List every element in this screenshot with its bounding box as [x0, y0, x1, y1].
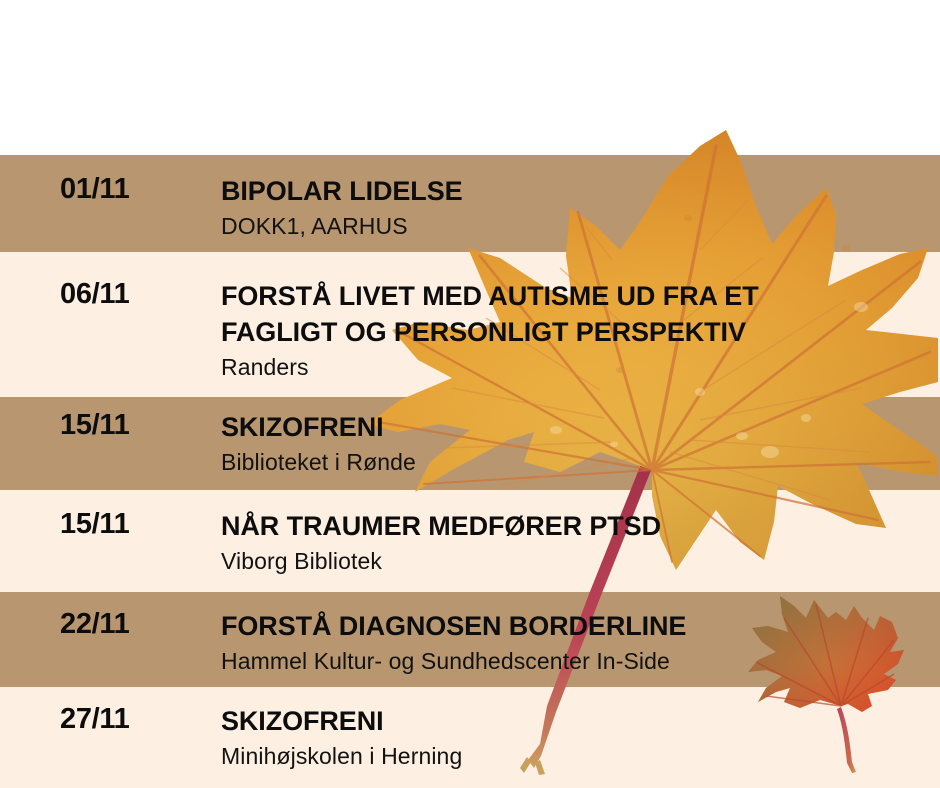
event-location: Viborg Bibliotek: [221, 546, 921, 576]
event-body: FORSTÅ DIAGNOSEN BORDERLINE Hammel Kultu…: [221, 608, 921, 676]
event-title: BIPOLAR LIDELSE: [221, 173, 921, 209]
event-location: DOKK1, AARHUS: [221, 211, 921, 241]
event-title: SKIZOFRENI: [221, 703, 921, 739]
event-title: FORSTÅ LIVET MED AUTISME UD FRA ET FAGLI…: [221, 278, 831, 350]
event-location: Randers: [221, 352, 831, 382]
event-location: Hammel Kultur- og Sundhedscenter In-Side: [221, 646, 921, 676]
event-list: 01/11 BIPOLAR LIDELSE DOKK1, AARHUS 06/1…: [0, 155, 940, 788]
header-band: [0, 0, 940, 155]
event-date: 01/11: [60, 173, 129, 206]
event-date: 15/11: [60, 409, 129, 442]
event-date: 27/11: [60, 703, 129, 736]
event-date: 06/11: [60, 278, 129, 311]
event-date: 22/11: [60, 608, 129, 641]
event-body: FORSTÅ LIVET MED AUTISME UD FRA ET FAGLI…: [221, 278, 831, 382]
event-location: Biblioteket i Rønde: [221, 447, 921, 477]
event-date: 15/11: [60, 508, 129, 541]
poster-canvas: Temaaftener i november: [0, 0, 940, 788]
event-title: NÅR TRAUMER MEDFØRER PTSD: [221, 508, 921, 544]
event-body: NÅR TRAUMER MEDFØRER PTSD Viborg Bibliot…: [221, 508, 921, 576]
event-body: SKIZOFRENI Minihøjskolen i Herning: [221, 703, 921, 771]
event-title: FORSTÅ DIAGNOSEN BORDERLINE: [221, 608, 921, 644]
event-body: SKIZOFRENI Biblioteket i Rønde: [221, 409, 921, 477]
event-body: BIPOLAR LIDELSE DOKK1, AARHUS: [221, 173, 921, 241]
event-title: SKIZOFRENI: [221, 409, 921, 445]
event-location: Minihøjskolen i Herning: [221, 741, 921, 771]
